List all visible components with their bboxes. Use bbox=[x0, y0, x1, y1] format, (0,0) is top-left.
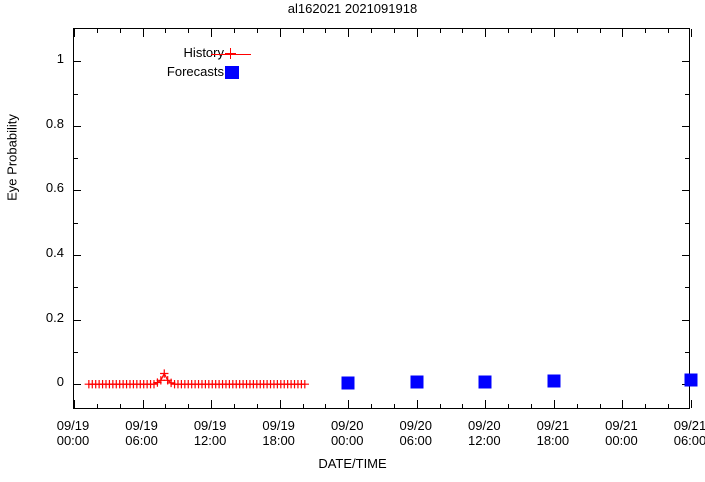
history-point-marker bbox=[129, 380, 137, 388]
forecast-square-swatch-icon bbox=[225, 66, 239, 79]
x-tick-mark bbox=[280, 400, 281, 408]
history-point-marker bbox=[105, 380, 113, 388]
x-minor-tick-mark bbox=[394, 29, 395, 33]
y-axis-label: Eye Probability bbox=[5, 68, 20, 248]
forecast-point-marker bbox=[342, 376, 355, 389]
y-minor-tick-mark bbox=[685, 287, 689, 288]
history-point-marker bbox=[301, 380, 309, 388]
history-point-marker bbox=[273, 380, 281, 388]
history-point-marker bbox=[256, 380, 264, 388]
x-minor-tick-mark bbox=[371, 29, 372, 33]
x-minor-tick-mark bbox=[120, 29, 121, 33]
x-minor-tick-mark bbox=[325, 29, 326, 33]
x-tick-mark bbox=[554, 29, 555, 37]
y-minor-tick-mark bbox=[74, 223, 78, 224]
x-minor-tick-mark bbox=[531, 404, 532, 408]
x-tick-mark bbox=[211, 400, 212, 408]
x-minor-tick-mark bbox=[371, 404, 372, 408]
x-tick-mark bbox=[485, 400, 486, 408]
history-point-marker bbox=[177, 380, 185, 388]
x-minor-tick-mark bbox=[234, 404, 235, 408]
x-tick-mark bbox=[74, 400, 75, 408]
x-minor-tick-mark bbox=[600, 404, 601, 408]
x-tick-mark bbox=[417, 29, 418, 37]
x-minor-tick-mark bbox=[188, 404, 189, 408]
history-point-marker bbox=[239, 380, 247, 388]
history-plot bbox=[74, 29, 691, 410]
x-tick-mark bbox=[211, 29, 212, 37]
legend-label-forecasts: Forecasts bbox=[167, 64, 224, 79]
history-point-marker bbox=[246, 380, 254, 388]
history-point-marker bbox=[126, 380, 134, 388]
history-point-marker bbox=[122, 380, 130, 388]
x-axis-label: DATE/TIME bbox=[0, 456, 705, 471]
x-tick-mark bbox=[280, 29, 281, 37]
history-point-marker bbox=[205, 380, 213, 388]
history-point-marker bbox=[146, 380, 154, 388]
x-minor-tick-mark bbox=[165, 29, 166, 33]
x-tick-mark bbox=[622, 29, 623, 37]
history-point-marker bbox=[181, 380, 189, 388]
history-point-marker bbox=[170, 380, 178, 388]
x-tick-mark bbox=[691, 400, 692, 408]
history-point-marker bbox=[280, 380, 288, 388]
history-point-marker bbox=[253, 380, 261, 388]
x-minor-tick-mark bbox=[531, 29, 532, 33]
plus-marker-icon bbox=[225, 48, 236, 59]
x-tick-mark bbox=[485, 29, 486, 37]
legend-item-forecasts: Forecasts bbox=[106, 64, 296, 84]
history-point-marker bbox=[109, 380, 117, 388]
x-minor-tick-mark bbox=[394, 404, 395, 408]
history-point-marker bbox=[174, 380, 182, 388]
history-point-marker bbox=[136, 380, 144, 388]
history-point-marker bbox=[266, 380, 274, 388]
x-minor-tick-mark bbox=[577, 29, 578, 33]
x-minor-tick-mark bbox=[303, 29, 304, 33]
history-point-marker bbox=[139, 380, 147, 388]
x-tick-mark bbox=[348, 29, 349, 37]
history-point-marker bbox=[150, 380, 158, 388]
history-point-marker bbox=[92, 380, 100, 388]
x-minor-tick-mark bbox=[462, 404, 463, 408]
forecasts-series bbox=[74, 29, 689, 408]
y-minor-tick-mark bbox=[685, 94, 689, 95]
x-minor-tick-mark bbox=[97, 404, 98, 408]
history-line bbox=[89, 374, 305, 385]
x-tick-mark bbox=[143, 400, 144, 408]
history-point-marker bbox=[184, 380, 192, 388]
history-point-marker bbox=[163, 376, 171, 384]
x-minor-tick-mark bbox=[325, 404, 326, 408]
x-minor-tick-mark bbox=[120, 404, 121, 408]
history-point-marker bbox=[133, 380, 141, 388]
y-tick-mark bbox=[74, 384, 81, 385]
history-point-marker bbox=[198, 380, 206, 388]
x-minor-tick-mark bbox=[303, 404, 304, 408]
x-minor-tick-mark bbox=[462, 29, 463, 33]
y-tick-label: 0.4 bbox=[0, 245, 64, 260]
y-minor-tick-mark bbox=[685, 223, 689, 224]
forecast-point-marker bbox=[410, 375, 423, 388]
forecast-point-marker bbox=[479, 375, 492, 388]
y-minor-tick-mark bbox=[685, 352, 689, 353]
y-tick-mark bbox=[682, 61, 689, 62]
x-minor-tick-mark bbox=[668, 404, 669, 408]
x-tick-date: 09/21 bbox=[645, 418, 705, 433]
y-tick-mark bbox=[74, 255, 81, 256]
history-point-marker bbox=[98, 380, 106, 388]
x-minor-tick-mark bbox=[577, 404, 578, 408]
y-tick-label: 0 bbox=[0, 374, 64, 389]
history-series bbox=[74, 29, 689, 408]
history-point-marker bbox=[294, 380, 302, 388]
x-minor-tick-mark bbox=[600, 29, 601, 33]
history-point-marker bbox=[235, 380, 243, 388]
history-point-marker bbox=[167, 379, 175, 387]
y-tick-mark bbox=[74, 126, 81, 127]
y-tick-label: 0.2 bbox=[0, 310, 64, 325]
x-tick-mark bbox=[417, 400, 418, 408]
x-minor-tick-mark bbox=[257, 29, 258, 33]
history-point-marker bbox=[222, 380, 230, 388]
history-point-marker bbox=[88, 380, 96, 388]
history-point-marker bbox=[95, 380, 103, 388]
x-tick-mark bbox=[691, 29, 692, 37]
x-tick-mark bbox=[622, 400, 623, 408]
x-minor-tick-mark bbox=[188, 29, 189, 33]
forecast-point-marker bbox=[547, 374, 560, 387]
history-point-marker bbox=[119, 380, 127, 388]
history-point-marker bbox=[116, 380, 124, 388]
x-minor-tick-mark bbox=[257, 404, 258, 408]
history-point-marker bbox=[194, 380, 202, 388]
history-point-marker bbox=[290, 380, 298, 388]
chart-title: al162021 2021091918 bbox=[0, 1, 705, 16]
x-tick-mark bbox=[143, 29, 144, 37]
y-tick-mark bbox=[682, 320, 689, 321]
y-tick-label: 0.8 bbox=[0, 116, 64, 131]
history-point-marker bbox=[277, 380, 285, 388]
history-point-marker bbox=[157, 376, 165, 384]
x-tick-mark bbox=[74, 29, 75, 37]
history-point-marker bbox=[283, 380, 291, 388]
y-minor-tick-mark bbox=[74, 287, 78, 288]
y-tick-label: 0.6 bbox=[0, 180, 64, 195]
history-point-marker bbox=[259, 380, 267, 388]
y-tick-mark bbox=[74, 61, 81, 62]
legend-label-history: History bbox=[184, 45, 224, 60]
legend-item-history: History bbox=[106, 45, 296, 65]
history-point-marker bbox=[297, 380, 305, 388]
history-point-marker bbox=[187, 380, 195, 388]
history-point-marker bbox=[263, 380, 271, 388]
y-minor-tick-mark bbox=[74, 94, 78, 95]
history-point-marker bbox=[208, 380, 216, 388]
x-minor-tick-mark bbox=[440, 29, 441, 33]
x-minor-tick-mark bbox=[645, 29, 646, 33]
history-point-marker bbox=[112, 380, 120, 388]
x-tick-label: 09/2106:00 bbox=[645, 418, 705, 448]
y-tick-mark bbox=[682, 190, 689, 191]
history-point-marker bbox=[229, 380, 237, 388]
history-point-marker bbox=[143, 380, 151, 388]
x-minor-tick-mark bbox=[165, 404, 166, 408]
history-point-marker bbox=[232, 380, 240, 388]
history-point-marker bbox=[160, 369, 168, 377]
history-point-marker bbox=[191, 380, 199, 388]
y-tick-mark bbox=[682, 384, 689, 385]
y-tick-mark bbox=[74, 320, 81, 321]
x-minor-tick-mark bbox=[508, 29, 509, 33]
x-minor-tick-mark bbox=[668, 29, 669, 33]
x-tick-mark bbox=[348, 400, 349, 408]
chart-figure: al162021 2021091918 Eye Probability DATE… bbox=[0, 0, 705, 482]
y-minor-tick-mark bbox=[685, 158, 689, 159]
history-point-marker bbox=[201, 380, 209, 388]
history-point-marker bbox=[215, 380, 223, 388]
history-point-marker bbox=[85, 380, 93, 388]
y-tick-mark bbox=[682, 255, 689, 256]
history-point-marker bbox=[287, 380, 295, 388]
x-minor-tick-mark bbox=[97, 29, 98, 33]
history-point-marker bbox=[249, 380, 257, 388]
history-point-marker bbox=[211, 380, 219, 388]
y-tick-mark bbox=[682, 126, 689, 127]
x-minor-tick-mark bbox=[440, 404, 441, 408]
x-tick-mark bbox=[554, 400, 555, 408]
history-point-marker bbox=[102, 380, 110, 388]
y-tick-mark bbox=[74, 190, 81, 191]
history-point-marker bbox=[270, 380, 278, 388]
y-minor-tick-mark bbox=[74, 352, 78, 353]
y-minor-tick-mark bbox=[74, 158, 78, 159]
history-point-marker bbox=[225, 380, 233, 388]
x-minor-tick-mark bbox=[645, 404, 646, 408]
x-minor-tick-mark bbox=[508, 404, 509, 408]
chart-legend: History Forecasts bbox=[106, 37, 296, 85]
x-tick-time: 06:00 bbox=[645, 433, 705, 448]
history-point-marker bbox=[153, 378, 161, 386]
plot-area: History Forecasts bbox=[73, 28, 690, 409]
x-minor-tick-mark bbox=[234, 29, 235, 33]
history-point-marker bbox=[242, 380, 250, 388]
y-tick-label: 1 bbox=[0, 51, 64, 66]
history-point-marker bbox=[218, 380, 226, 388]
